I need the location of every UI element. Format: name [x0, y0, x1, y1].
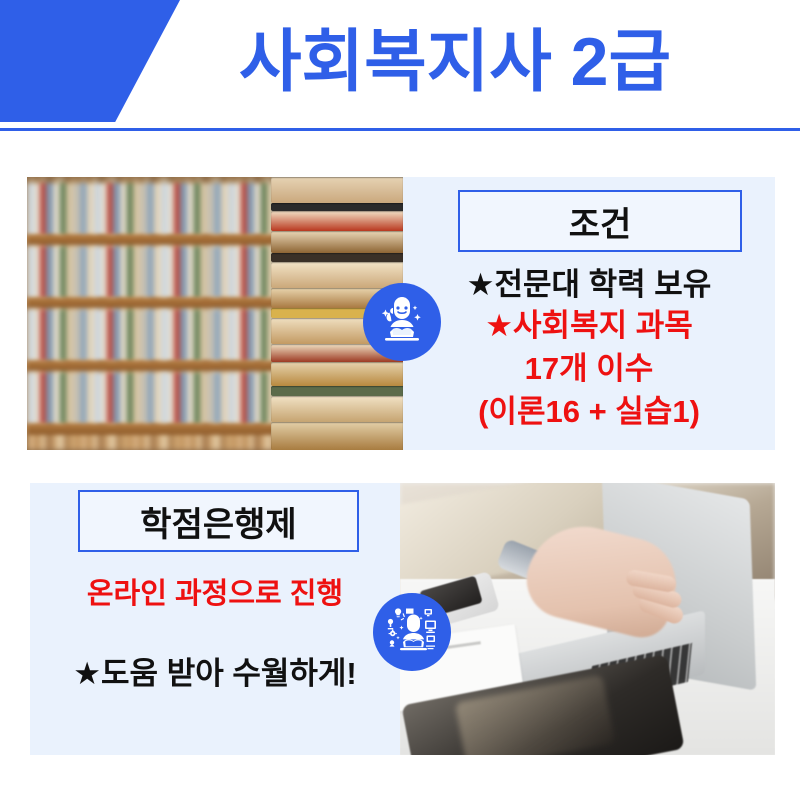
- credit-bank-panel: 학점은행제 온라인 과정으로 진행 ★도움 받아 수월하게!: [30, 483, 400, 755]
- condition-line-2: ★사회복지 과목: [403, 310, 775, 341]
- credit-bank-line-2: ★도움 받아 수월하게!: [30, 658, 400, 689]
- header-accent-shape: [0, 0, 180, 122]
- condition-line-1: ★전문대 학력 보유: [403, 269, 775, 300]
- student-reading-book-icon: [363, 283, 441, 361]
- page-title: 사회복지사 2급: [175, 12, 735, 112]
- header-divider: [0, 128, 800, 131]
- condition-heading: 조건: [458, 190, 742, 252]
- condition-panel: 조건 ★전문대 학력 보유 ★사회복지 과목 17개 이수 (이론16 + 실습…: [403, 177, 775, 450]
- credit-bank-line-1: 온라인 과정으로 진행: [30, 580, 400, 609]
- infographic-page: 사회복지사 2급: [0, 0, 800, 800]
- credit-bank-heading: 학점은행제: [78, 490, 359, 552]
- page-header: 사회복지사 2급: [0, 0, 800, 131]
- online-learning-icon: [373, 593, 451, 671]
- condition-line-4: (이론16 + 실습1): [403, 396, 775, 427]
- bookshelf-photo: [27, 177, 403, 450]
- laptop-photo: [400, 483, 775, 755]
- condition-line-3: 17개 이수: [403, 353, 775, 384]
